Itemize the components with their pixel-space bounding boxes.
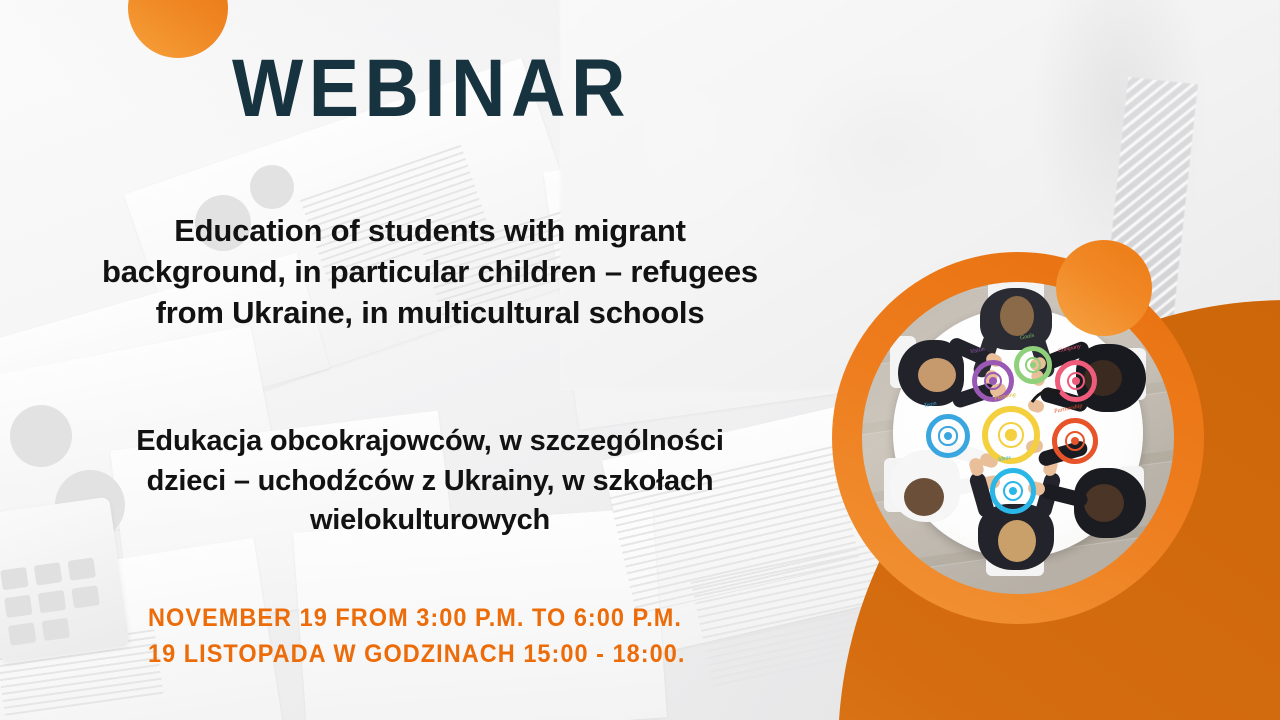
event-date-english: NOVEMBER 19 FROM 3:00 P.M. TO 6:00 P.M. — [148, 601, 685, 637]
event-schedule: NOVEMBER 19 FROM 3:00 P.M. TO 6:00 P.M. … — [148, 601, 685, 672]
background-pie-chart-mark — [250, 165, 294, 209]
subtitle-english: Education of students with migrant backg… — [100, 210, 760, 334]
orange-accent-circle-small — [1056, 240, 1152, 336]
gear-cyan — [990, 468, 1036, 514]
gear-green — [1014, 346, 1052, 384]
webinar-slide: Vision Goals Company Team Planning Partn… — [0, 0, 1280, 720]
gear-orange-red — [1052, 418, 1098, 464]
gear-yellow — [982, 406, 1040, 464]
page-title: WEBINAR — [232, 48, 631, 130]
event-date-polish: 19 LISTOPADA W GODZINACH 15:00 - 18:00. — [148, 637, 685, 673]
background-pie-chart-mark — [10, 405, 72, 467]
subtitle-polish: Edukacja obcokrajowców, w szczególności … — [100, 422, 760, 541]
gear-blue — [926, 414, 970, 458]
arrow-icon — [1030, 386, 1064, 408]
